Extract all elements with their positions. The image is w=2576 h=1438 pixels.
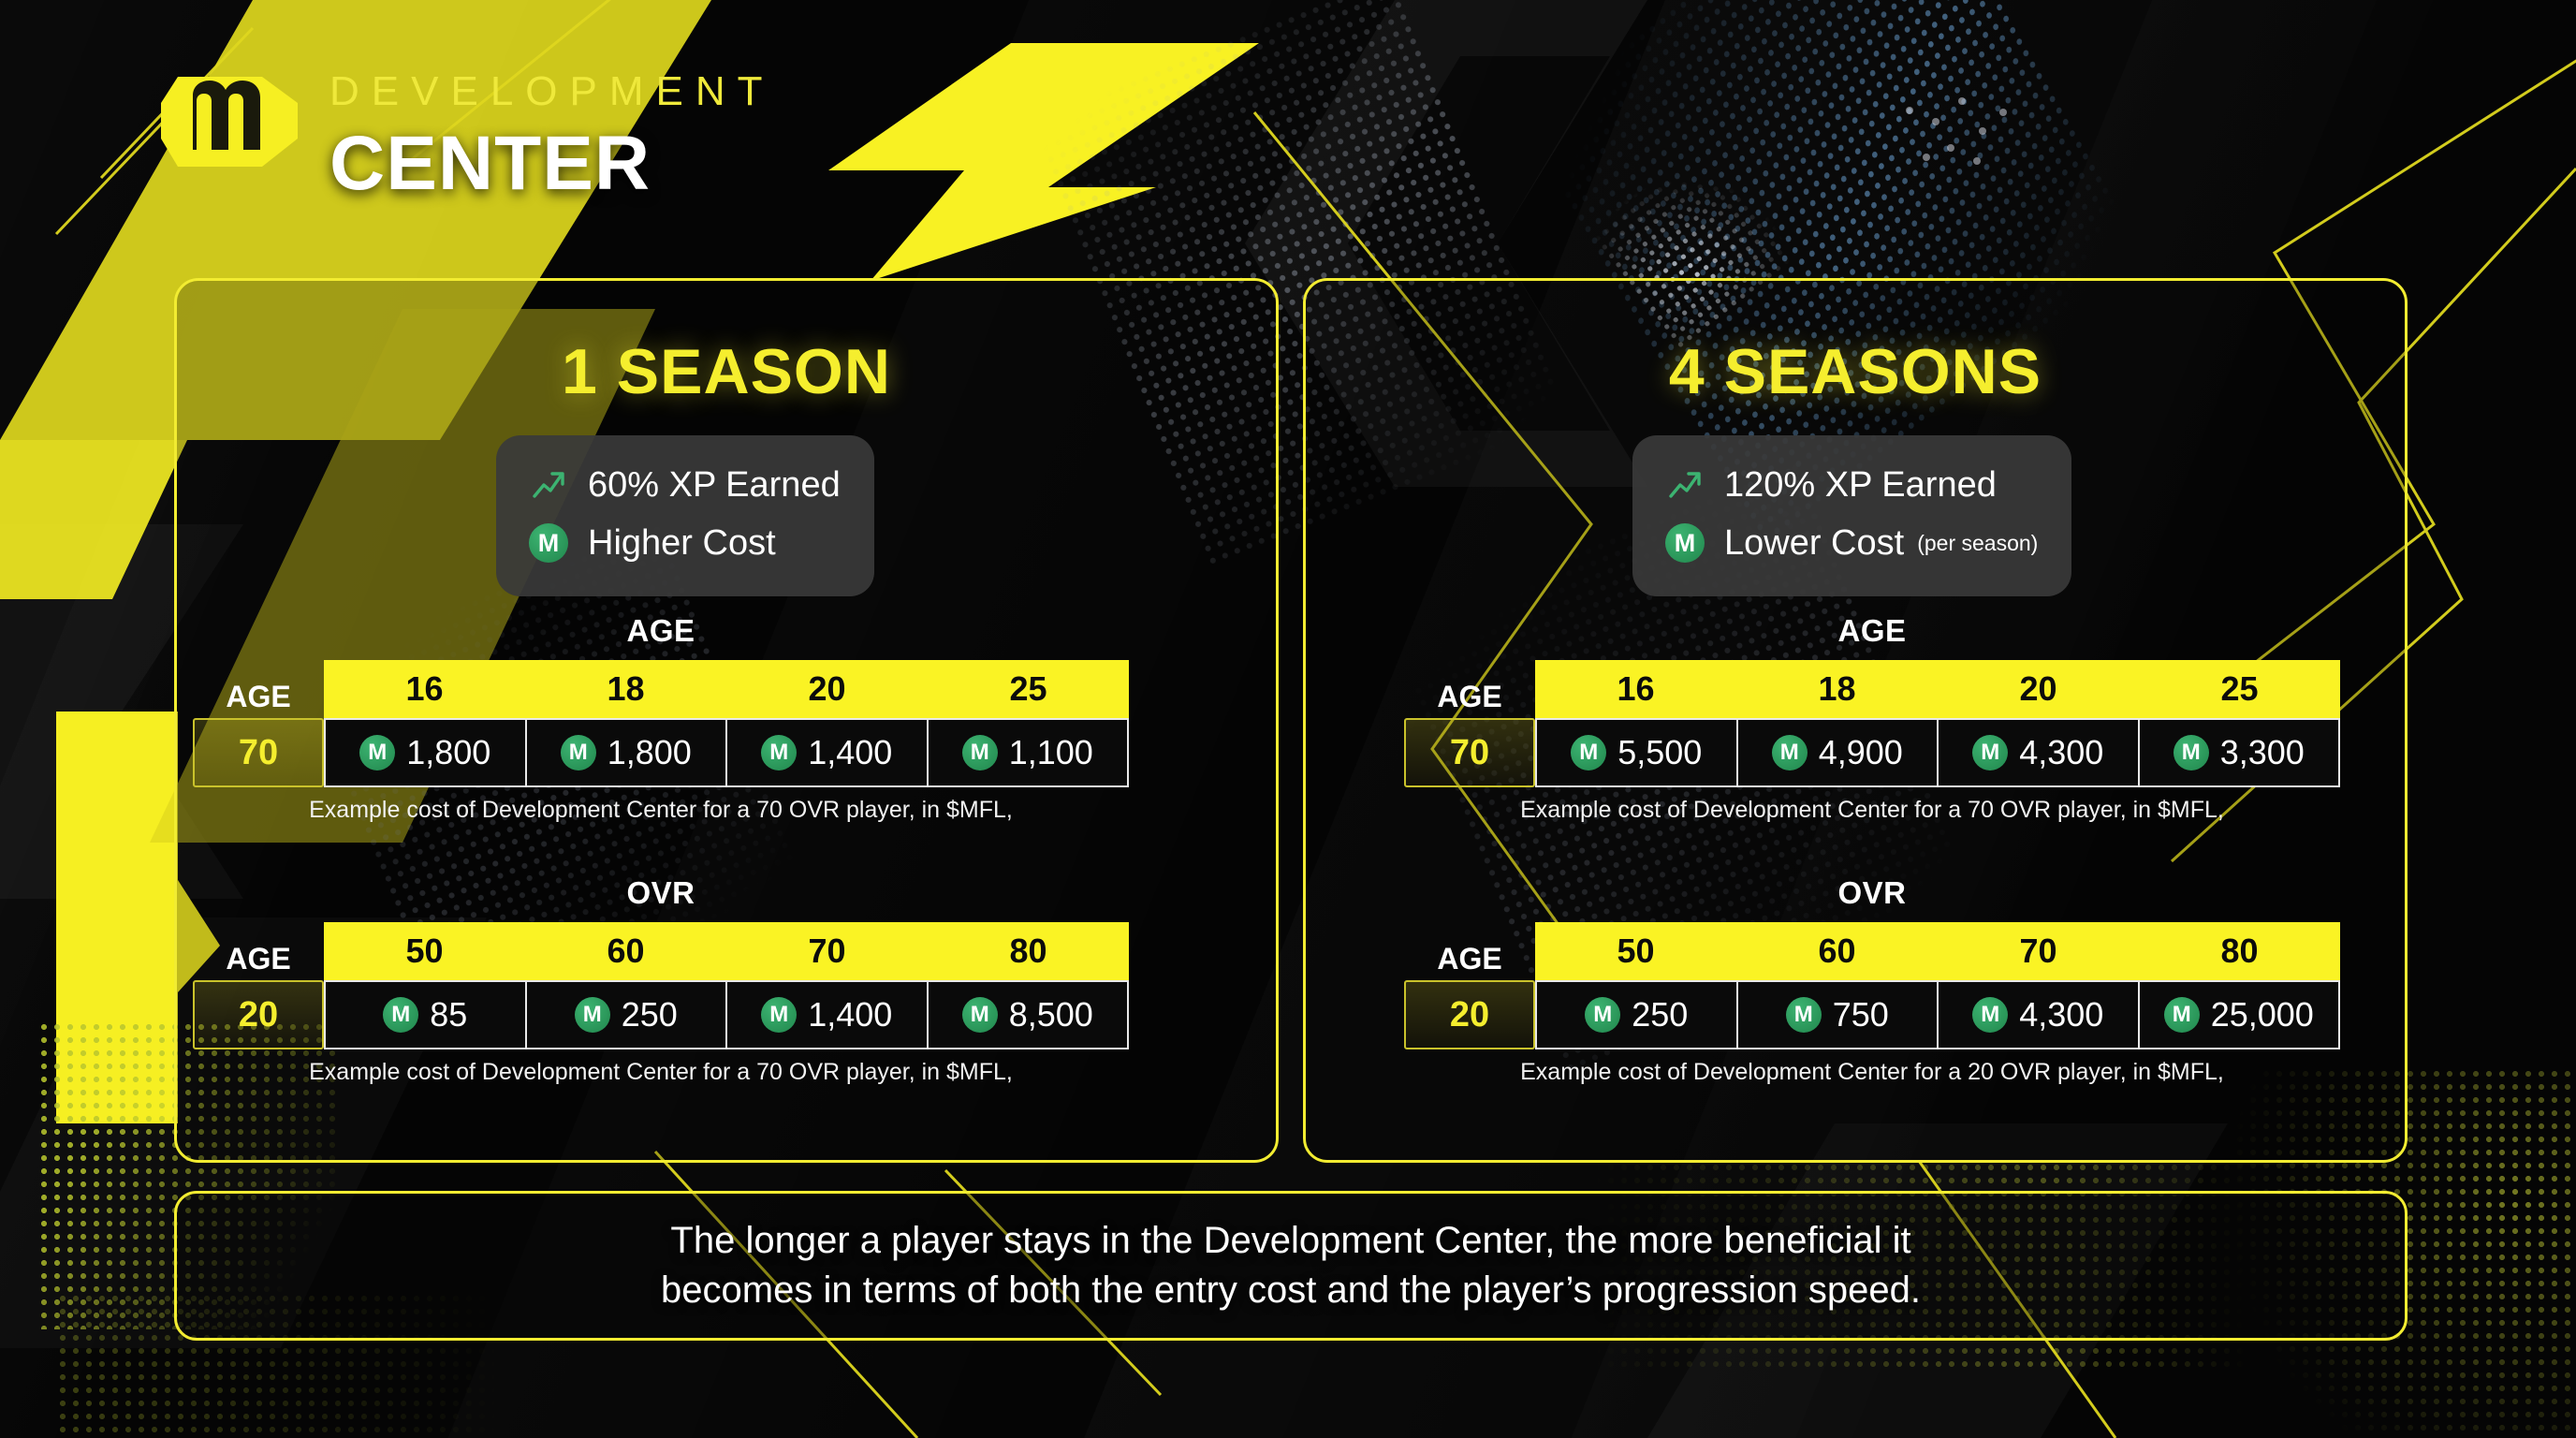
table-cell: M 250 (1535, 980, 1737, 1049)
mfl-coin-icon: M (1972, 735, 2008, 770)
trending-up-icon (1661, 466, 1709, 504)
mfl-coin-icon: M (761, 997, 797, 1033)
table-axis-column: AGE 70 (1404, 660, 1535, 787)
table-cell-value: 1,400 (808, 995, 892, 1034)
panel-title-one-season: 1 SEASON (177, 335, 1276, 408)
mfl-coin-icon: M (575, 997, 610, 1033)
table-header-cell: 80 (2139, 922, 2340, 980)
table-note: Example cost of Development Center for a… (1404, 797, 2340, 824)
table-header-row: 50 60 70 80 (1535, 922, 2340, 980)
trending-up-icon (524, 466, 573, 504)
table-header-cell: 80 (928, 922, 1129, 980)
table-cell: M 1,400 (726, 718, 928, 787)
summary-line-1: The longer a player stays in the Develop… (661, 1216, 1921, 1266)
table-row: M 1,800 M 1,800 M 1,400 M 1,100 (324, 718, 1129, 787)
badge-xp-label: 120% XP Earned (1724, 465, 1997, 506)
page-title: CENTER (329, 125, 775, 202)
table-note: Example cost of Development Center for a… (193, 1059, 1129, 1086)
mfl-coin-icon: M (561, 735, 596, 770)
table-header-cell: 60 (1736, 922, 1938, 980)
table-cell: M 4,300 (1938, 980, 2139, 1049)
summary-banner-text: The longer a player stays in the Develop… (661, 1216, 1921, 1315)
table-header-row: 50 60 70 80 (324, 922, 1129, 980)
mfl-coin-icon: M (1972, 997, 2008, 1033)
table-cell-value: 4,900 (1819, 733, 1903, 772)
table-one-season-ovr: OVR AGE 20 50 60 70 80 M 85 M 250 (193, 875, 1129, 1086)
badge-cost-label: Higher Cost (588, 523, 776, 564)
mfl-coin-icon: M (2164, 997, 2200, 1033)
badge-row-cost: M Lower Cost (per season) (1661, 514, 2038, 572)
table-row: M 85 M 250 M 1,400 M 8,500 (324, 980, 1129, 1049)
table-header-cell: 16 (1535, 660, 1736, 718)
title-block: DEVELOPMENT CENTER (329, 71, 775, 202)
table-cell-value: 5,500 (1617, 733, 1702, 772)
mfl-coin-icon: M (524, 523, 573, 563)
table-header-cell: 20 (1938, 660, 2139, 718)
badge-row-xp: 120% XP Earned (1661, 456, 2038, 514)
badge-row-xp: 60% XP Earned (524, 456, 841, 514)
table-cell: M 1,100 (928, 718, 1130, 787)
table-header-cell: 20 (726, 660, 928, 718)
badge-xp-label: 60% XP Earned (588, 465, 841, 506)
table-cell: M 1,400 (726, 980, 928, 1049)
table-header-cell: 70 (726, 922, 928, 980)
table-cell-value: 1,800 (406, 733, 490, 772)
table-header-cell: 16 (324, 660, 525, 718)
mfl-coin-icon: M (1772, 735, 1808, 770)
table-cell: M 750 (1737, 980, 1939, 1049)
table-note: Example cost of Development Center for a… (193, 797, 1129, 824)
table-header-cell: 18 (525, 660, 726, 718)
table-header-cell: 60 (525, 922, 726, 980)
mfl-coin-icon: M (962, 735, 998, 770)
table-header-row: 16 18 20 25 (324, 660, 1129, 718)
mfl-coin-icon: M (962, 997, 998, 1033)
mfl-hex-logo-icon (157, 45, 311, 187)
table-cell-value: 3,300 (2220, 733, 2305, 772)
table-cell-value: 4,300 (2019, 733, 2103, 772)
table-caption: OVR (193, 875, 1129, 911)
table-header-cell: 50 (1535, 922, 1736, 980)
mfl-coin-icon: M (761, 735, 797, 770)
table-cell: M 1,800 (526, 718, 727, 787)
benefits-badge-one-season: 60% XP Earned M Higher Cost (496, 435, 874, 596)
table-four-seasons-ovr: OVR AGE 20 50 60 70 80 M 250 M 750 (1404, 875, 2340, 1086)
table-axis-label: AGE (193, 922, 324, 980)
benefits-badge-four-seasons: 120% XP Earned M Lower Cost (per season) (1632, 435, 2071, 596)
mfl-coin-icon: M (359, 735, 395, 770)
table-cell: M 1,800 (324, 718, 526, 787)
table-one-season-age: AGE AGE 70 16 18 20 25 M 1,800 M 1,800 (193, 613, 1129, 824)
table-row: M 250 M 750 M 4,300 M 25,000 (1535, 980, 2340, 1049)
table-cell-value: 4,300 (2019, 995, 2103, 1034)
table-cell: M 4,900 (1737, 718, 1939, 787)
mfl-coin-icon: M (383, 997, 418, 1033)
table-axis-column: AGE 20 (1404, 922, 1535, 1049)
table-axis-label: AGE (1404, 660, 1535, 718)
table-note: Example cost of Development Center for a… (1404, 1059, 2340, 1086)
table-cell-value: 1,400 (808, 733, 892, 772)
badge-cost-sublabel: (per season) (1917, 531, 2038, 556)
mfl-coin-icon: M (1571, 735, 1606, 770)
table-header-cell: 25 (2139, 660, 2340, 718)
table-axis-value: 70 (193, 718, 324, 787)
table-header-row: 16 18 20 25 (1535, 660, 2340, 718)
table-cell-value: 750 (1833, 995, 1889, 1034)
table-cell: M 5,500 (1535, 718, 1737, 787)
table-cell: M 8,500 (928, 980, 1130, 1049)
table-cell: M 85 (324, 980, 526, 1049)
table-cell-value: 250 (622, 995, 678, 1034)
page-title-top: DEVELOPMENT (329, 71, 775, 112)
table-axis-label: AGE (193, 660, 324, 718)
page-header: DEVELOPMENT CENTER (0, 0, 2576, 281)
table-cell-value: 85 (430, 995, 467, 1034)
table-header-cell: 50 (324, 922, 525, 980)
table-axis-column: AGE 20 (193, 922, 324, 1049)
table-header-cell: 25 (928, 660, 1129, 718)
badge-cost-label: Lower Cost (1724, 523, 1904, 564)
table-axis-label: AGE (1404, 922, 1535, 980)
summary-banner: The longer a player stays in the Develop… (174, 1191, 2408, 1341)
table-cell-value: 1,100 (1009, 733, 1093, 772)
badge-row-cost: M Higher Cost (524, 514, 841, 572)
table-header-cell: 70 (1938, 922, 2139, 980)
table-header-cell: 18 (1736, 660, 1938, 718)
table-row: M 5,500 M 4,900 M 4,300 M 3,300 (1535, 718, 2340, 787)
table-caption: AGE (193, 613, 1129, 649)
table-cell: M 250 (526, 980, 727, 1049)
table-axis-value: 20 (193, 980, 324, 1049)
table-axis-value: 70 (1404, 718, 1535, 787)
table-cell: M 4,300 (1938, 718, 2139, 787)
mfl-coin-icon: M (1661, 523, 1709, 563)
table-axis-value: 20 (1404, 980, 1535, 1049)
summary-line-2: becomes in terms of both the entry cost … (661, 1266, 1921, 1315)
mfl-coin-icon: M (1786, 997, 1822, 1033)
table-four-seasons-age: AGE AGE 70 16 18 20 25 M 5,500 M 4,900 (1404, 613, 2340, 824)
table-cell-value: 8,500 (1009, 995, 1093, 1034)
table-cell-value: 250 (1632, 995, 1688, 1034)
table-cell: M 25,000 (2139, 980, 2341, 1049)
table-caption: AGE (1404, 613, 2340, 649)
table-caption: OVR (1404, 875, 2340, 911)
table-cell-value: 1,800 (607, 733, 692, 772)
mfl-coin-icon: M (1585, 997, 1620, 1033)
panel-title-four-seasons: 4 SEASONS (1306, 335, 2405, 408)
table-cell-value: 25,000 (2211, 995, 2314, 1034)
table-cell: M 3,300 (2139, 718, 2341, 787)
mfl-coin-icon: M (2173, 735, 2209, 770)
table-axis-column: AGE 70 (193, 660, 324, 787)
